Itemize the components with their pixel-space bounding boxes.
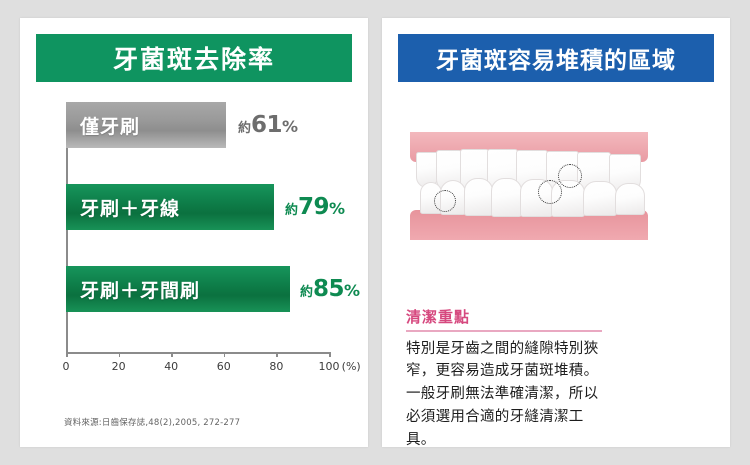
plaque-accumulation-panel: 牙菌斑容易堆積的區域 — [382, 18, 730, 447]
x-tick-label-20: 20 — [112, 360, 126, 373]
plaque-removal-bar-chart: 0 20 40 60 80 100 (%) 僅牙刷 約61% 牙刷＋牙線 — [20, 94, 368, 374]
x-tick-label-100: 100 — [319, 360, 340, 373]
lower-tooth-8 — [615, 183, 645, 215]
bar-label-brush-interdental: 牙刷＋牙間刷 — [80, 276, 200, 303]
x-tick-100 — [329, 352, 331, 357]
source-citation: 資料來源:日齒保存誌,48(2),2005, 272-277 — [64, 416, 240, 428]
gumline-highlight-circle — [434, 190, 456, 212]
bar-value-approx-1: 約 — [285, 203, 298, 218]
bar-value-approx-2: 約 — [300, 285, 313, 300]
bar-value-brush-floss: 約79% — [285, 194, 345, 220]
infographic-root: 牙菌斑去除率 0 20 40 60 80 100 (%) 僅牙刷 — [0, 0, 750, 465]
x-tick-40 — [171, 352, 173, 357]
x-tick-label-0: 0 — [63, 360, 70, 373]
plaque-removal-panel: 牙菌斑去除率 0 20 40 60 80 100 (%) 僅牙刷 — [20, 18, 368, 447]
left-panel-title: 牙菌斑去除率 — [36, 34, 352, 82]
cleaning-tips-title: 清潔重點 — [406, 306, 606, 330]
bar-value-approx-0: 約 — [238, 121, 251, 136]
bar-brush-only: 僅牙刷 — [66, 102, 226, 148]
bar-label-brush-only: 僅牙刷 — [80, 112, 140, 139]
bar-value-number-0: 61 — [251, 112, 282, 138]
bar-brush-interdental: 牙刷＋牙間刷 — [66, 266, 290, 312]
right-panel-title: 牙菌斑容易堆積的區域 — [398, 34, 714, 82]
bar-value-brush-interdental: 約85% — [300, 276, 360, 302]
bar-value-number-1: 79 — [298, 194, 329, 220]
x-tick-20 — [119, 352, 121, 357]
x-tick-label-80: 80 — [269, 360, 283, 373]
lower-tooth-4 — [491, 178, 522, 217]
x-tick-label-60: 60 — [217, 360, 231, 373]
teeth-side-view-illustration — [410, 132, 648, 240]
bar-value-number-2: 85 — [313, 276, 344, 302]
x-tick-60 — [224, 352, 226, 357]
bar-brush-floss: 牙刷＋牙線 — [66, 184, 274, 230]
x-tick-80 — [276, 352, 278, 357]
x-tick-0 — [66, 352, 68, 357]
lower-tooth-7 — [583, 181, 617, 216]
bar-value-percent-0: % — [282, 117, 298, 136]
lower-tooth-3 — [464, 178, 493, 216]
cleaning-tips-body: 特別是牙齒之間的縫隙特別狹窄，更容易造成牙菌斑堆積。一般牙刷無法準確清潔，所以必… — [406, 338, 602, 453]
bar-value-brush-only: 約61% — [238, 112, 298, 138]
cleaning-tips-block: 清潔重點 特別是牙齒之間的縫隙特別狹窄，更容易造成牙菌斑堆積。一般牙刷無法準確清… — [406, 306, 606, 452]
interdental-highlight-circle — [538, 180, 562, 204]
bar-label-brush-floss: 牙刷＋牙線 — [80, 194, 180, 221]
x-axis-unit-label: (%) — [342, 360, 361, 373]
bar-value-percent-2: % — [344, 281, 360, 300]
cleaning-tips-divider — [406, 330, 602, 332]
chart-x-axis — [66, 352, 329, 354]
occlusal-highlight-circle — [558, 164, 582, 188]
bar-value-percent-1: % — [329, 199, 345, 218]
x-tick-label-40: 40 — [164, 360, 178, 373]
